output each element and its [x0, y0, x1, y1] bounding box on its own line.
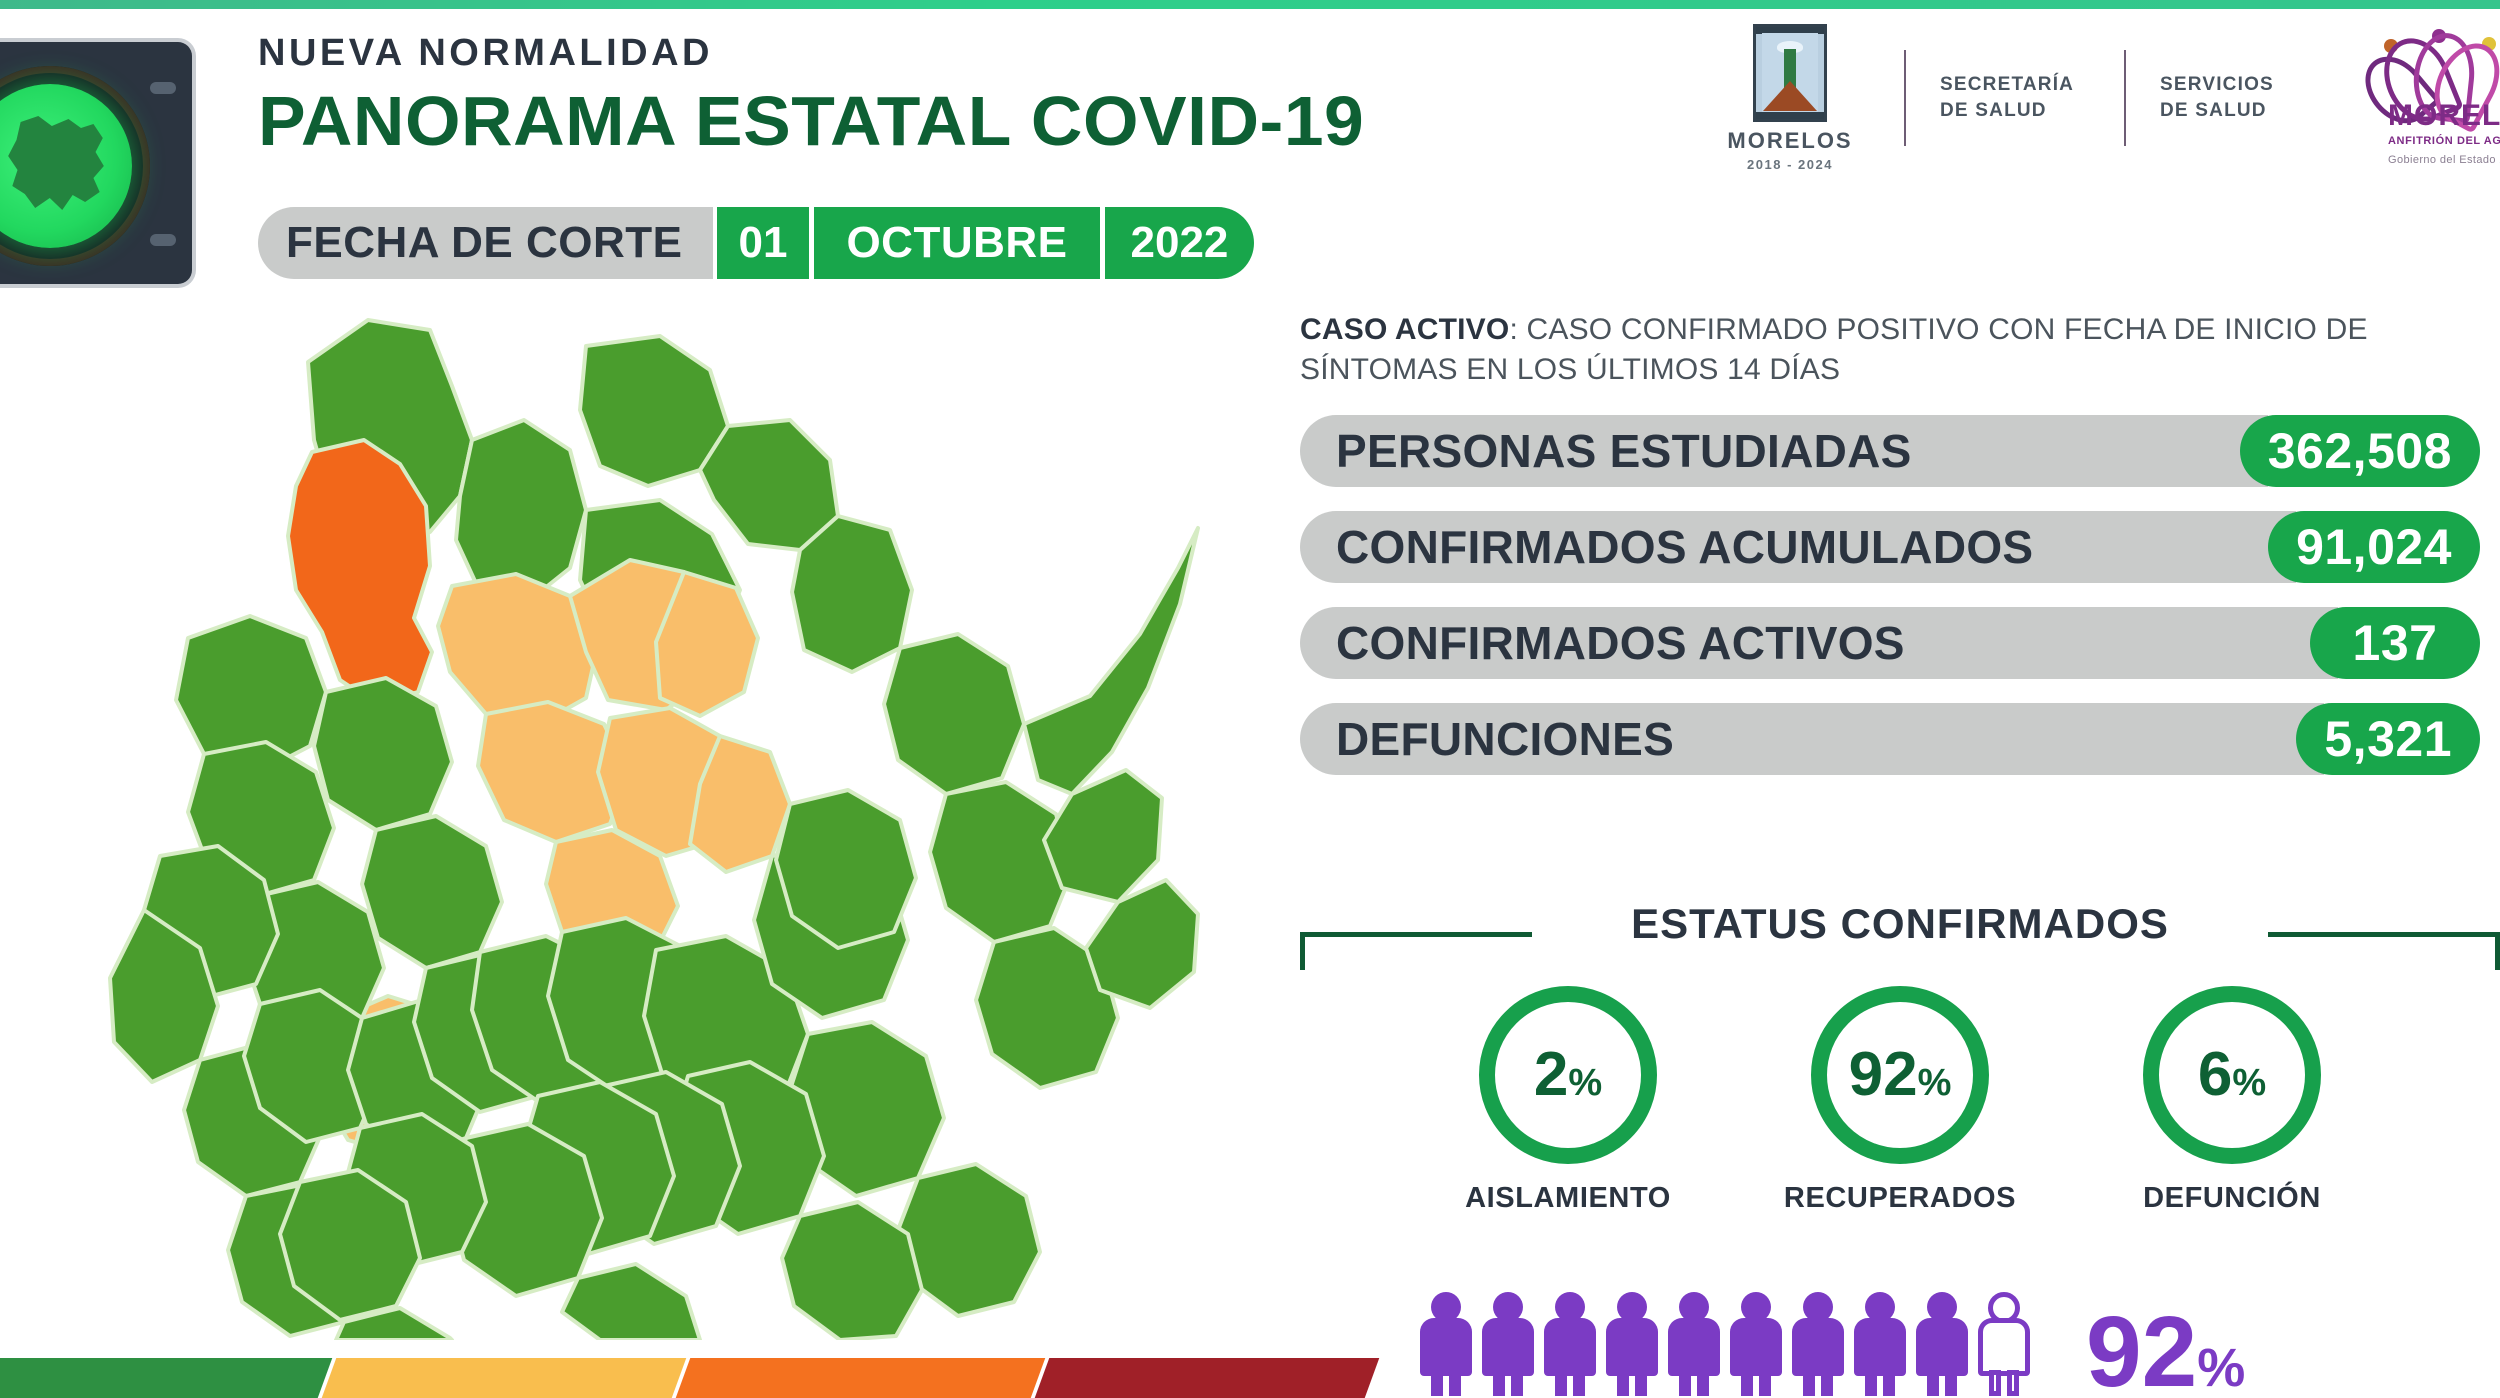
bracket-right — [2268, 932, 2500, 970]
person-outline-icon — [1978, 1292, 2030, 1396]
coat-of-arms-icon — [1753, 24, 1827, 122]
page-title: PANORAMA ESTATAL COVID-19 — [258, 86, 1364, 156]
stat-row: CONFIRMADOS ACUMULADOS 91,024 — [1300, 511, 2480, 583]
person-filled-icon — [1606, 1292, 1658, 1396]
date-label: FECHA DE CORTE — [258, 207, 713, 279]
map-region-green — [456, 420, 586, 600]
map-region-green — [1024, 528, 1198, 794]
stat-row: CONFIRMADOS ACTIVOS 137 — [1300, 607, 2480, 679]
legend-segment-rojo: ROJO — [1035, 1358, 1380, 1398]
estatus-confirmados-section: ESTATUS CONFIRMADOS 2% AISLAMIENTO 92% R… — [1300, 900, 2500, 1215]
people-icon-group — [1420, 1292, 2030, 1396]
secretaria-de-salud-logo: SECRETARÍA DE SALUD — [1940, 72, 2090, 123]
caso-activo-definition: CASO ACTIVO: CASO CONFIRMADO POSITIVO CO… — [1300, 310, 2430, 389]
percent-symbol: % — [1918, 1062, 1952, 1104]
percent-symbol: % — [2232, 1062, 2266, 1104]
legend-segment-naranja: NARANJA — [676, 1358, 1046, 1398]
date-year: 2022 — [1105, 207, 1255, 279]
recovered-pictogram: 92% — [1420, 1292, 2245, 1396]
servicios-line-1: SERVICIOS — [2160, 72, 2310, 98]
stats-column: CASO ACTIVO: CASO CONFIRMADO POSITIVO CO… — [1300, 310, 2480, 799]
pictogram-percent: 92% — [2086, 1308, 2245, 1396]
bracket-left — [1300, 932, 1532, 970]
semaforo-legend-bar: VERDEAMARILLONARANJAROJO — [0, 1358, 1372, 1398]
flower-logo-sub1: ANFITRIÓN DEL AGUA — [2388, 135, 2500, 147]
flower-logo-name: MORELOS — [2388, 99, 2500, 133]
donut-item-recuperados: 92% RECUPERADOS — [1765, 986, 2035, 1215]
stat-row: PERSONAS ESTUDIADAS 362,508 — [1300, 415, 2480, 487]
donut-ring: 2% — [1479, 986, 1657, 1164]
estatus-title: ESTATUS CONFIRMADOS — [1631, 900, 2169, 948]
donut-item-defuncion: 6% DEFUNCIÓN — [2097, 986, 2367, 1215]
stat-value: 362,508 — [2240, 415, 2480, 487]
secretaria-line-1: SECRETARÍA — [1940, 72, 2090, 98]
shield-years: 2018 - 2024 — [1747, 157, 1833, 172]
percent-symbol: % — [2197, 1345, 2245, 1393]
date-day: 01 — [717, 207, 810, 279]
donut-percent-value: 92 — [1849, 1040, 1918, 1109]
headline-block: NUEVA NORMALIDAD PANORAMA ESTATAL COVID-… — [258, 34, 1343, 156]
person-filled-icon — [1668, 1292, 1720, 1396]
stat-value: 91,024 — [2268, 511, 2480, 583]
stat-label: PERSONAS ESTUDIADAS — [1300, 415, 2268, 487]
cutoff-date-bar: FECHA DE CORTE 01 OCTUBRE 2022 — [258, 207, 1254, 279]
infographic-page: NUEVA NORMALIDAD PANORAMA ESTATAL COVID-… — [0, 0, 2500, 1398]
person-filled-icon — [1420, 1292, 1472, 1396]
top-accent-bar — [0, 0, 2500, 9]
map-region-green — [314, 678, 452, 830]
stat-row: DEFUNCIONES 5,321 — [1300, 703, 2480, 775]
logo-divider — [2124, 50, 2126, 146]
traffic-light-green-icon — [0, 38, 196, 288]
stat-value: 5,321 — [2296, 703, 2480, 775]
kicker-text: NUEVA NORMALIDAD — [258, 34, 1343, 72]
donut-group: 2% AISLAMIENTO 92% RECUPERADOS 6% DEFUNC… — [1300, 986, 2500, 1215]
person-filled-icon — [1792, 1292, 1844, 1396]
donut-percent-value: 6 — [2198, 1040, 2232, 1109]
stat-value: 137 — [2310, 607, 2480, 679]
secretaria-line-2: DE SALUD — [1940, 98, 2090, 124]
percent-symbol: % — [1568, 1062, 1602, 1104]
donut-caption: AISLAMIENTO — [1465, 1182, 1671, 1215]
legend-segment-amarillo: AMARILLO — [322, 1358, 687, 1398]
map-region-green — [700, 420, 838, 550]
date-month: OCTUBRE — [814, 207, 1099, 279]
person-filled-icon — [1730, 1292, 1782, 1396]
servicios-line-2: DE SALUD — [2160, 98, 2310, 124]
map-region-green — [562, 1264, 700, 1340]
donut-percent: 92% — [1849, 1044, 1952, 1106]
donut-caption: RECUPERADOS — [1784, 1182, 2016, 1215]
morelos-flower-logo: MORELOS ANFITRIÓN DEL AGUA Gobierno del … — [2340, 23, 2500, 173]
screw-icon — [150, 234, 176, 246]
map-svg[interactable] — [100, 300, 1230, 1340]
stat-label: CONFIRMADOS ACUMULADOS — [1300, 511, 2296, 583]
donut-item-aislamiento: 2% AISLAMIENTO — [1433, 986, 1703, 1215]
legend-segment-verde: VERDE — [0, 1358, 332, 1398]
screw-icon — [150, 82, 176, 94]
donut-ring: 6% — [2143, 986, 2321, 1164]
donut-percent: 2% — [1534, 1044, 1602, 1106]
morelos-shield-logo: MORELOS 2018 - 2024 — [1710, 24, 1870, 172]
donut-percent: 6% — [2198, 1044, 2266, 1106]
person-filled-icon — [1482, 1292, 1534, 1396]
shield-name: MORELOS — [1727, 128, 1852, 154]
donut-ring: 92% — [1811, 986, 1989, 1164]
morelos-municipality-map[interactable] — [100, 300, 1230, 1340]
map-region-green — [362, 816, 502, 968]
pictogram-percent-value: 92 — [2086, 1308, 2197, 1396]
person-filled-icon — [1916, 1292, 1968, 1396]
caso-activo-term: CASO ACTIVO — [1300, 313, 1509, 346]
header-logos: MORELOS 2018 - 2024 SECRETARÍA DE SALUD … — [1710, 18, 2500, 178]
servicios-de-salud-logo: SERVICIOS DE SALUD — [2160, 72, 2310, 123]
flower-logo-sub2: Gobierno del Estado 2018-2024 — [2388, 153, 2500, 167]
map-region-green — [792, 516, 912, 672]
donut-caption: DEFUNCIÓN — [2143, 1182, 2321, 1215]
estatus-header: ESTATUS CONFIRMADOS — [1300, 900, 2500, 972]
map-region-green — [884, 634, 1024, 794]
person-filled-icon — [1854, 1292, 1906, 1396]
person-filled-icon — [1544, 1292, 1596, 1396]
logo-divider — [1904, 50, 1906, 146]
stat-label: DEFUNCIONES — [1300, 703, 2324, 775]
donut-percent-value: 2 — [1534, 1040, 1568, 1109]
stat-label: CONFIRMADOS ACTIVOS — [1300, 607, 2338, 679]
